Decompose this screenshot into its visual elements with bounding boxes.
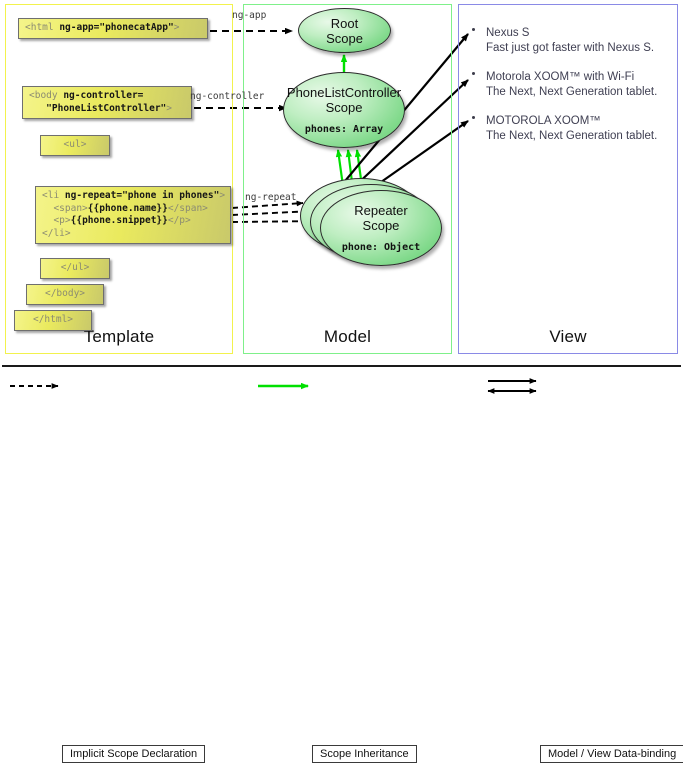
bullet-icon — [472, 116, 475, 119]
code-span-close: </span> — [168, 203, 208, 214]
code-body-tag: <body — [29, 90, 63, 101]
list-item: Motorola XOOM™ with Wi-Fi The Next, Next… — [472, 70, 672, 100]
code-block-li-repeat: <li ng-repeat="phone in phones"> <span>{… — [35, 186, 231, 244]
code-span-open: <span> — [53, 203, 87, 214]
code-html-attr: ng-app="phonecatApp" — [59, 22, 173, 33]
root-scope-title-line1: Root — [326, 16, 363, 31]
code-block-ul-close: </ul> — [40, 258, 110, 279]
code-ul-close-text: </ul> — [61, 262, 90, 273]
root-scope-title-line2: Scope — [326, 31, 363, 46]
phone-snippet: The Next, Next Generation tablet. — [486, 129, 672, 144]
bullet-icon — [472, 72, 475, 75]
repeater-scope-property: phone: Object — [342, 242, 420, 253]
list-item: MOTOROLA XOOM™ The Next, Next Generation… — [472, 114, 672, 144]
controller-scope-title-line1: PhoneListController — [287, 85, 401, 100]
code-body-attr-value: "PhoneListController" — [46, 103, 166, 114]
code-li-tag: <li — [42, 190, 65, 201]
code-body-attr-name: ng-controller= — [63, 90, 143, 101]
list-item: Nexus S Fast just got faster with Nexus … — [472, 26, 672, 56]
repeater-scope-ellipse: Repeater Scope phone: Object — [320, 190, 442, 266]
panel-view-label: View — [459, 327, 677, 347]
code-block-body-close: </body> — [26, 284, 104, 305]
root-scope-ellipse: Root Scope — [298, 8, 391, 53]
code-html-tag: <html — [25, 22, 59, 33]
phone-snippet: The Next, Next Generation tablet. — [486, 85, 672, 100]
code-li-close: </li> — [42, 228, 71, 239]
phone-name: MOTOROLA XOOM™ — [486, 114, 672, 129]
code-li-attr: ng-repeat="phone in phones" — [65, 190, 219, 201]
code-p-close: </p> — [168, 215, 191, 226]
phone-name: Motorola XOOM™ with Wi-Fi — [486, 70, 672, 85]
panel-model-label: Model — [244, 327, 451, 347]
code-html-close-bracket: > — [174, 22, 180, 33]
phone-snippet: Fast just got faster with Nexus S. — [486, 41, 672, 56]
edge-label-ng-app: ng-app — [232, 10, 266, 21]
controller-scope-ellipse: PhoneListController Scope phones: Array — [283, 72, 405, 148]
bullet-icon — [472, 28, 475, 31]
code-body-close-text: </body> — [45, 288, 85, 299]
code-p-open: <p> — [53, 215, 70, 226]
legend-label-scope-inheritance: Scope Inheritance — [312, 745, 417, 763]
edge-label-ng-controller: ng-controller — [190, 91, 264, 102]
phone-name: Nexus S — [486, 26, 672, 41]
controller-scope-title-line2: Scope — [287, 100, 401, 115]
code-li-bracket: > — [219, 190, 225, 201]
phone-list: Nexus S Fast just got faster with Nexus … — [472, 26, 672, 158]
repeater-scope-title-line2: Scope — [354, 218, 407, 233]
code-block-ul-open: <ul> — [40, 135, 110, 156]
legend-label-implicit-scope-declaration: Implicit Scope Declaration — [62, 745, 205, 763]
code-html-close-text: </html> — [33, 314, 73, 325]
code-block-html-open: <html ng-app="phonecatApp"> — [18, 18, 208, 39]
code-ul-text: <ul> — [64, 139, 87, 150]
code-body-close-bracket: > — [166, 103, 172, 114]
code-p-binding: {{phone.snippet}} — [71, 215, 168, 226]
edge-label-ng-repeat: ng-repeat — [245, 192, 296, 203]
code-block-html-close: </html> — [14, 310, 92, 331]
diagram-canvas: Template Model View <html ng-app="phonec… — [0, 0, 683, 411]
legend: Implicit Scope Declaration Scope Inherit… — [0, 368, 683, 411]
code-span-binding: {{phone.name}} — [88, 203, 168, 214]
legend-label-model-view-databinding: Model / View Data-binding — [540, 745, 683, 763]
code-block-body-open: <body ng-controller= "PhoneListControlle… — [22, 86, 192, 119]
repeater-scope-title-line1: Repeater — [354, 203, 407, 218]
controller-scope-property: phones: Array — [305, 124, 383, 135]
